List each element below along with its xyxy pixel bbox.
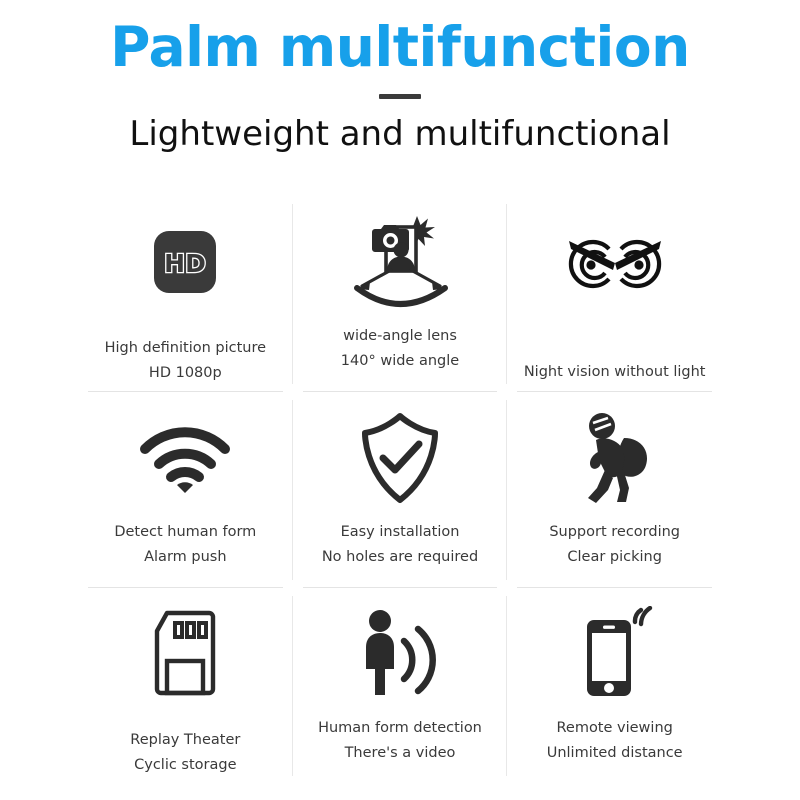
product-feature-infographic: Palm multifunction Lightweight and multi…: [0, 0, 800, 800]
feature-grid: HD High definition picture HD 1080p: [78, 196, 722, 784]
title-divider-wrap: [0, 78, 800, 114]
feature-caption: Remote viewing Unlimited distance: [547, 710, 683, 763]
feature-caption: Easy installation No holes are required: [322, 514, 478, 567]
caption-line-1: Detect human form: [114, 522, 256, 542]
feature-caption: High definition picture HD 1080p: [105, 318, 266, 383]
thief-with-sack-icon: [572, 402, 658, 514]
feature-caption: Detect human form Alarm push: [114, 514, 256, 567]
caption-line-2: Clear picking: [567, 547, 662, 567]
feature-cell-remote-viewing: Remote viewing Unlimited distance: [507, 588, 722, 784]
caption-line-2: Alarm push: [144, 547, 226, 567]
wide-angle-camera-icon: [345, 206, 455, 318]
smartphone-signal-icon: [571, 598, 659, 710]
feature-caption: Human form detection There's a video: [318, 710, 482, 763]
feature-cell-wide-angle: wide-angle lens 140° wide angle: [293, 196, 508, 392]
feature-caption: Replay Theater Cyclic storage: [130, 710, 240, 775]
feature-cell-night-vision: Night vision without light: [507, 196, 722, 392]
header: Palm multifunction Lightweight and multi…: [0, 0, 800, 154]
feature-cell-easy-installation: Easy installation No holes are required: [293, 392, 508, 588]
night-vision-eyes-icon: [559, 206, 671, 318]
page-title: Palm multifunction: [0, 16, 800, 78]
caption-line-2: No holes are required: [322, 547, 478, 567]
wifi-signal-icon: [136, 402, 234, 514]
caption-line-2: 140° wide angle: [341, 351, 459, 371]
feature-caption: Support recording Clear picking: [549, 514, 680, 567]
caption-line-1: wide-angle lens: [343, 326, 457, 346]
feature-cell-detect-human: Detect human form Alarm push: [78, 392, 293, 588]
feature-cell-replay-theater: Replay Theater Cyclic storage: [78, 588, 293, 784]
caption-line-2: Cyclic storage: [134, 755, 236, 775]
caption-line-1: Human form detection: [318, 718, 482, 738]
page-subtitle: Lightweight and multifunctional: [0, 114, 800, 154]
human-motion-detection-icon: [352, 598, 448, 710]
feature-cell-human-detection: Human form detection There's a video: [293, 588, 508, 784]
caption-line-1: Support recording: [549, 522, 680, 542]
caption-line-2: HD 1080p: [149, 363, 222, 383]
caption-line-2: Unlimited distance: [547, 743, 683, 763]
hd-badge-icon: HD: [146, 206, 224, 318]
feature-caption: wide-angle lens 140° wide angle: [341, 318, 459, 371]
svg-text:HD: HD: [164, 249, 206, 278]
caption-line-1: High definition picture: [105, 338, 266, 358]
caption-line-1: Remote viewing: [556, 718, 672, 738]
feature-caption: Night vision without light: [524, 318, 706, 382]
caption-line-2: There's a video: [345, 743, 456, 763]
shield-check-icon: [355, 402, 445, 514]
title-divider: [379, 94, 421, 99]
caption-line-1: Night vision without light: [524, 362, 706, 382]
sd-memory-card-icon: [149, 598, 221, 710]
caption-line-1: Easy installation: [341, 522, 460, 542]
feature-cell-hd: HD High definition picture HD 1080p: [78, 196, 293, 392]
caption-line-1: Replay Theater: [130, 730, 240, 750]
feature-cell-support-recording: Support recording Clear picking: [507, 392, 722, 588]
